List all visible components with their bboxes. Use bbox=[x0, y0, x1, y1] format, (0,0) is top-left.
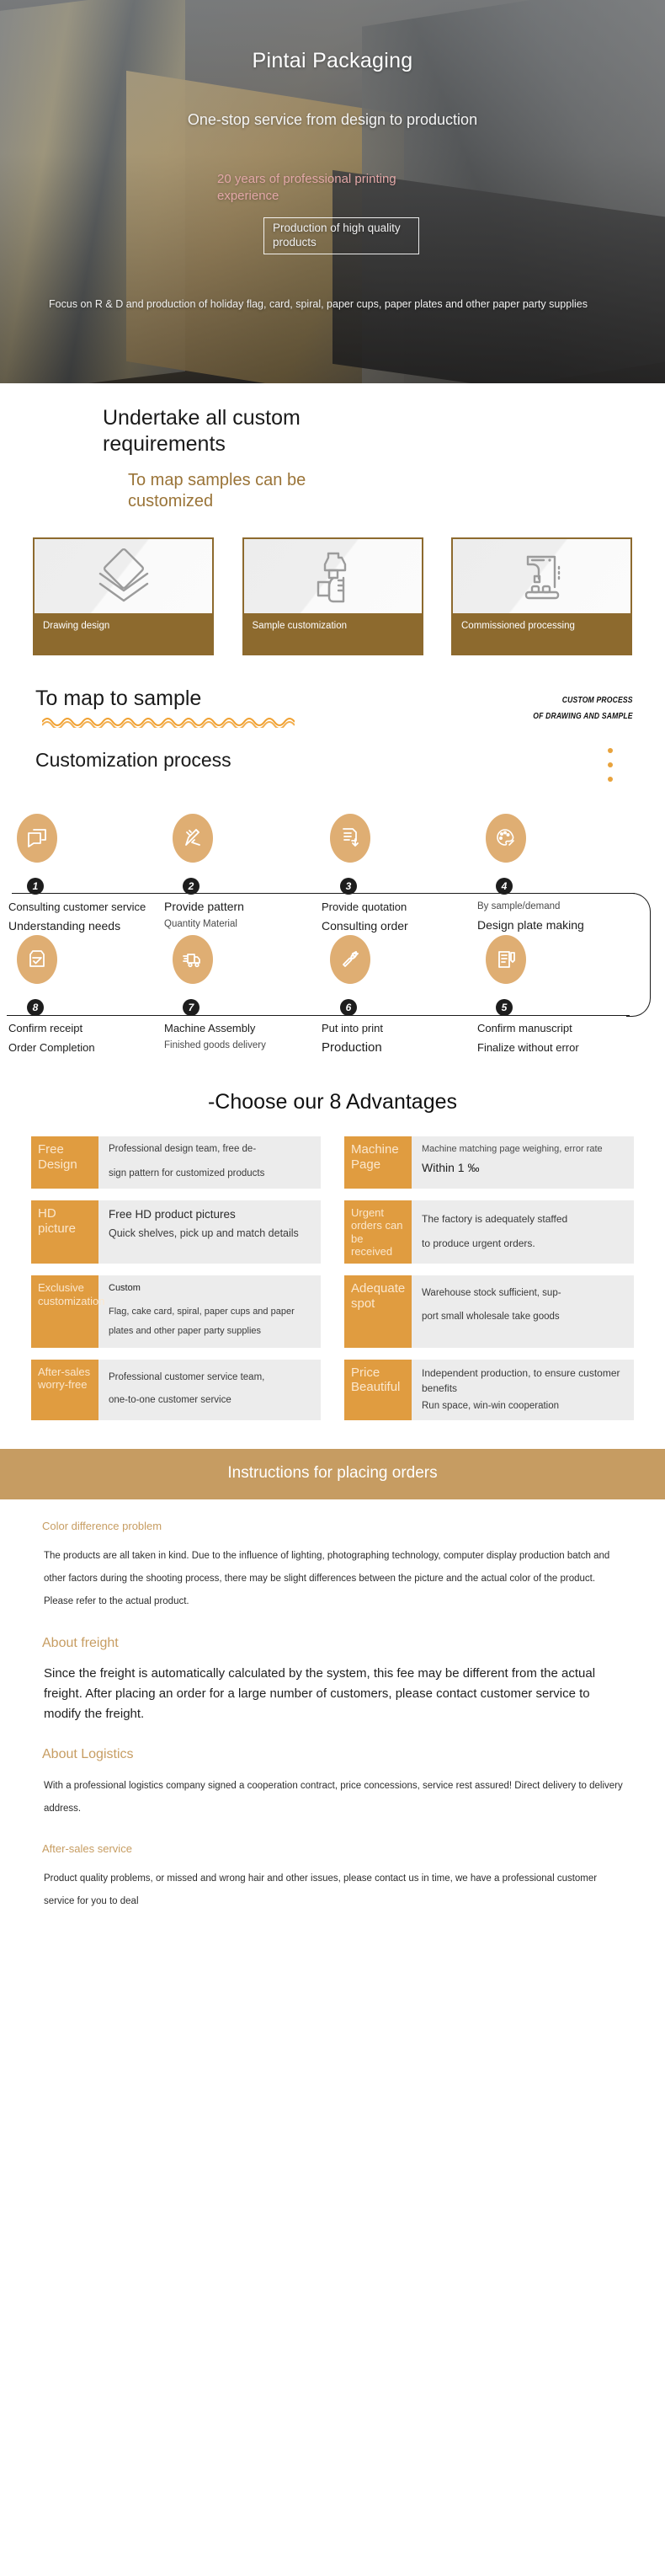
step-line-2: Order Completion bbox=[8, 1041, 152, 1055]
process-badge: CUSTOM PROCESS OF DRAWING AND SAMPLE bbox=[517, 692, 633, 724]
stamp-hand-icon bbox=[301, 548, 364, 604]
advantage-key: After-sales worry-free bbox=[31, 1360, 98, 1420]
service-card-sample-customization[interactable]: Sample customization bbox=[242, 537, 423, 655]
service-card-commissioned-processing[interactable]: Commissioned processing bbox=[451, 537, 632, 655]
instructions-heading: About freight bbox=[42, 1635, 202, 1652]
quote-document-icon bbox=[330, 814, 370, 863]
advantage-line-1: Custom bbox=[109, 1281, 312, 1296]
step-number-badge: 8 bbox=[27, 999, 44, 1016]
dot-icon bbox=[608, 777, 613, 782]
step-line-1: Confirm receipt bbox=[8, 1022, 152, 1035]
instructions-block: After-sales service Product quality prob… bbox=[0, 1842, 665, 1913]
service-card-drawing-design[interactable]: Drawing design bbox=[33, 537, 214, 655]
palette-brush-icon bbox=[486, 814, 526, 863]
dot-icon bbox=[608, 748, 613, 753]
process-heading-group: To map to sample Customization process bbox=[35, 686, 313, 772]
instructions-body: The products are all taken in kind. Due … bbox=[44, 1545, 623, 1613]
advantage-item[interactable]: Urgent orders can be received The factor… bbox=[344, 1200, 634, 1264]
process-step-7[interactable]: 7 Machine Assembly Finished goods delive… bbox=[164, 935, 307, 1052]
advantage-line-1: Machine matching page weighing, error ra… bbox=[422, 1142, 603, 1157]
step-line-1: By sample/demand bbox=[477, 901, 620, 913]
custom-heading: Undertake all custom requirements bbox=[103, 405, 355, 457]
advantage-line-1: Independent production, to ensure custom… bbox=[422, 1365, 625, 1397]
step-number-badge: 4 bbox=[496, 878, 513, 895]
step-line-2: Finalize without error bbox=[477, 1041, 620, 1055]
instructions-banner-title: Instructions for placing orders bbox=[227, 1464, 437, 1483]
instructions-heading: About Logistics bbox=[42, 1746, 202, 1763]
advantage-line-1: Professional customer service team, bbox=[109, 1371, 264, 1386]
advantage-body: Independent production, to ensure custom… bbox=[412, 1360, 634, 1420]
step-number-badge: 7 bbox=[183, 999, 199, 1016]
advantage-item[interactable]: Adequate spot Warehouse stock sufficient… bbox=[344, 1275, 634, 1347]
process-step-4[interactable]: 4 By sample/demand Design plate making bbox=[477, 814, 620, 933]
advantage-line-2: to produce urgent orders. bbox=[422, 1236, 567, 1252]
step-line-2: Finished goods delivery bbox=[164, 1039, 307, 1052]
advantages-grid: Free Design Professional design team, fr… bbox=[31, 1136, 634, 1420]
card-caption: Sample customization bbox=[244, 613, 422, 654]
card-caption: Commissioned processing bbox=[453, 613, 630, 654]
advantage-line-1: The factory is adequately staffed bbox=[422, 1211, 567, 1227]
layers-icon bbox=[93, 548, 155, 604]
hero-quality-box: Production of high quality products bbox=[263, 217, 419, 254]
card-artwork bbox=[453, 539, 630, 613]
advantage-body: Free HD product pictures Quick shelves, … bbox=[98, 1200, 307, 1264]
step-line-2: Understanding needs bbox=[8, 918, 152, 933]
hero-banner: Pintai Packaging One-stop service from d… bbox=[0, 0, 665, 383]
advantage-body: The factory is adequately staffed to pro… bbox=[412, 1200, 576, 1264]
step-line-1: Confirm manuscript bbox=[477, 1022, 620, 1035]
process-steps: 1 Consulting customer service Understand… bbox=[0, 800, 665, 1061]
advantage-line-2: Run space, win-win cooperation bbox=[422, 1399, 625, 1414]
process-rail-connector bbox=[626, 893, 651, 1017]
card-caption: Drawing design bbox=[35, 613, 212, 654]
machine-icon bbox=[511, 548, 573, 604]
process-step-3[interactable]: 3 Provide quotation Consulting order bbox=[322, 814, 465, 933]
step-line-2: Quantity Material bbox=[164, 918, 307, 931]
advantage-key: Machine Page bbox=[344, 1136, 412, 1189]
advantage-item[interactable]: HD picture Free HD product pictures Quic… bbox=[31, 1200, 321, 1264]
step-line-1: Provide pattern bbox=[164, 899, 307, 914]
instructions-block: About freight Since the freight is autom… bbox=[0, 1635, 665, 1724]
instructions-body: Since the freight is automatically calcu… bbox=[44, 1664, 623, 1724]
step-line-2: Production bbox=[322, 1039, 465, 1056]
card-artwork bbox=[35, 539, 212, 613]
process-heading-secondary: Customization process bbox=[35, 749, 313, 772]
advantages-section: -Choose our 8 Advantages Free Design Pro… bbox=[0, 1061, 665, 1420]
process-heading-primary: To map to sample bbox=[35, 686, 313, 711]
step-line-1: Consulting customer service bbox=[8, 901, 152, 914]
process-badge-line2: OF DRAWING AND SAMPLE bbox=[534, 708, 633, 724]
advantage-item[interactable]: Price Beautiful Independent production, … bbox=[344, 1360, 634, 1420]
instructions-block: About Logistics With a professional logi… bbox=[0, 1746, 665, 1820]
advantage-line-2: Flag, cake card, spiral, paper cups and … bbox=[109, 1302, 312, 1341]
service-card-list: Drawing design Sample customization bbox=[33, 537, 632, 655]
checked-box-icon bbox=[17, 935, 57, 984]
advantage-line-2: port small wholesale take goods bbox=[422, 1310, 561, 1325]
step-line-1: Put into print bbox=[322, 1022, 465, 1035]
advantage-line-1: Professional design team, free de- bbox=[109, 1142, 264, 1157]
step-line-2: Consulting order bbox=[322, 918, 465, 933]
advantage-key: Free Design bbox=[31, 1136, 98, 1189]
advantage-line-2: Quick shelves, pick up and match details bbox=[109, 1226, 299, 1242]
custom-subheading: To map samples can be customized bbox=[128, 470, 372, 512]
instructions-heading: Color difference problem bbox=[42, 1520, 202, 1533]
advantage-line-2: one-to-one customer service bbox=[109, 1393, 264, 1408]
advantage-line-2: Within 1 ‰ bbox=[422, 1159, 603, 1178]
hero-quality-label: Production of high quality products bbox=[273, 222, 410, 250]
advantage-item[interactable]: Exclusive customization Custom Flag, cak… bbox=[31, 1275, 321, 1347]
advantage-key: Adequate spot bbox=[344, 1275, 412, 1347]
hero-subtitle: One-stop service from design to producti… bbox=[0, 111, 665, 129]
advantage-body: Custom Flag, cake card, spiral, paper cu… bbox=[98, 1275, 321, 1347]
pencil-ruler-icon bbox=[173, 814, 213, 863]
advantage-body: Professional design team, free de- sign … bbox=[98, 1136, 273, 1189]
decorative-dots bbox=[608, 748, 613, 791]
advantage-key: Exclusive customization bbox=[31, 1275, 98, 1347]
manuscript-icon bbox=[486, 935, 526, 984]
instructions-block: Color difference problem The products ar… bbox=[0, 1520, 665, 1613]
advantage-item[interactable]: After-sales worry-free Professional cust… bbox=[31, 1360, 321, 1420]
advantage-line-2: sign pattern for customized products bbox=[109, 1167, 264, 1182]
process-step-1[interactable]: 1 Consulting customer service Understand… bbox=[8, 814, 152, 933]
hero-title: Pintai Packaging bbox=[0, 49, 665, 73]
advantage-line-1: Free HD product pictures bbox=[109, 1206, 299, 1224]
instructions-body: With a professional logistics company si… bbox=[44, 1775, 623, 1820]
process-step-2[interactable]: 2 Provide pattern Quantity Material bbox=[164, 814, 307, 931]
step-number-badge: 3 bbox=[340, 878, 357, 895]
advantage-key: Urgent orders can be received bbox=[344, 1200, 412, 1264]
wrench-icon bbox=[330, 935, 370, 984]
step-number-badge: 6 bbox=[340, 999, 357, 1016]
instructions-body: Product quality problems, or missed and … bbox=[44, 1868, 623, 1913]
process-step-5[interactable]: 5 Confirm manuscript Finalize without er… bbox=[477, 935, 620, 1056]
advantage-key: HD picture bbox=[31, 1200, 98, 1264]
advantage-line-1: Warehouse stock sufficient, sup- bbox=[422, 1286, 561, 1301]
step-line-1: Machine Assembly bbox=[164, 1022, 307, 1035]
process-heading-section: To map to sample Customization process C… bbox=[0, 655, 665, 772]
step-line-2: Design plate making bbox=[477, 917, 620, 933]
chat-bubble-icon bbox=[17, 814, 57, 863]
advantage-body: Machine matching page weighing, error ra… bbox=[412, 1136, 611, 1189]
advantage-item[interactable]: Machine Page Machine matching page weigh… bbox=[344, 1136, 634, 1189]
custom-requirements-section: Undertake all custom requirements To map… bbox=[0, 383, 665, 655]
instructions-section: Color difference problem The products ar… bbox=[0, 1499, 665, 1958]
step-number-badge: 5 bbox=[496, 999, 513, 1016]
instructions-banner: Instructions for placing orders bbox=[0, 1449, 665, 1499]
process-badge-line1: CUSTOM PROCESS bbox=[534, 692, 633, 708]
product-detail-page: Pintai Packaging One-stop service from d… bbox=[0, 0, 665, 1957]
hero-footer-description: Focus on R & D and production of holiday… bbox=[49, 297, 604, 313]
advantage-body: Professional customer service team, one-… bbox=[98, 1360, 273, 1420]
step-number-badge: 2 bbox=[183, 878, 199, 895]
process-step-8[interactable]: 8 Confirm receipt Order Completion bbox=[8, 935, 152, 1056]
delivery-truck-icon bbox=[173, 935, 213, 984]
step-line-1: Provide quotation bbox=[322, 901, 465, 914]
squiggle-underline-icon bbox=[42, 714, 313, 732]
advantage-body: Warehouse stock sufficient, sup- port sm… bbox=[412, 1275, 570, 1347]
instructions-heading: After-sales service bbox=[42, 1842, 202, 1856]
card-artwork bbox=[244, 539, 422, 613]
process-step-6[interactable]: 6 Put into print Production bbox=[322, 935, 465, 1056]
step-number-badge: 1 bbox=[27, 878, 44, 895]
advantages-title: -Choose our 8 Advantages bbox=[0, 1090, 665, 1114]
advantage-item[interactable]: Free Design Professional design team, fr… bbox=[31, 1136, 321, 1189]
dot-icon bbox=[608, 762, 613, 767]
advantage-key: Price Beautiful bbox=[344, 1360, 412, 1420]
hero-experience-text: 20 years of professional printing experi… bbox=[217, 171, 461, 206]
